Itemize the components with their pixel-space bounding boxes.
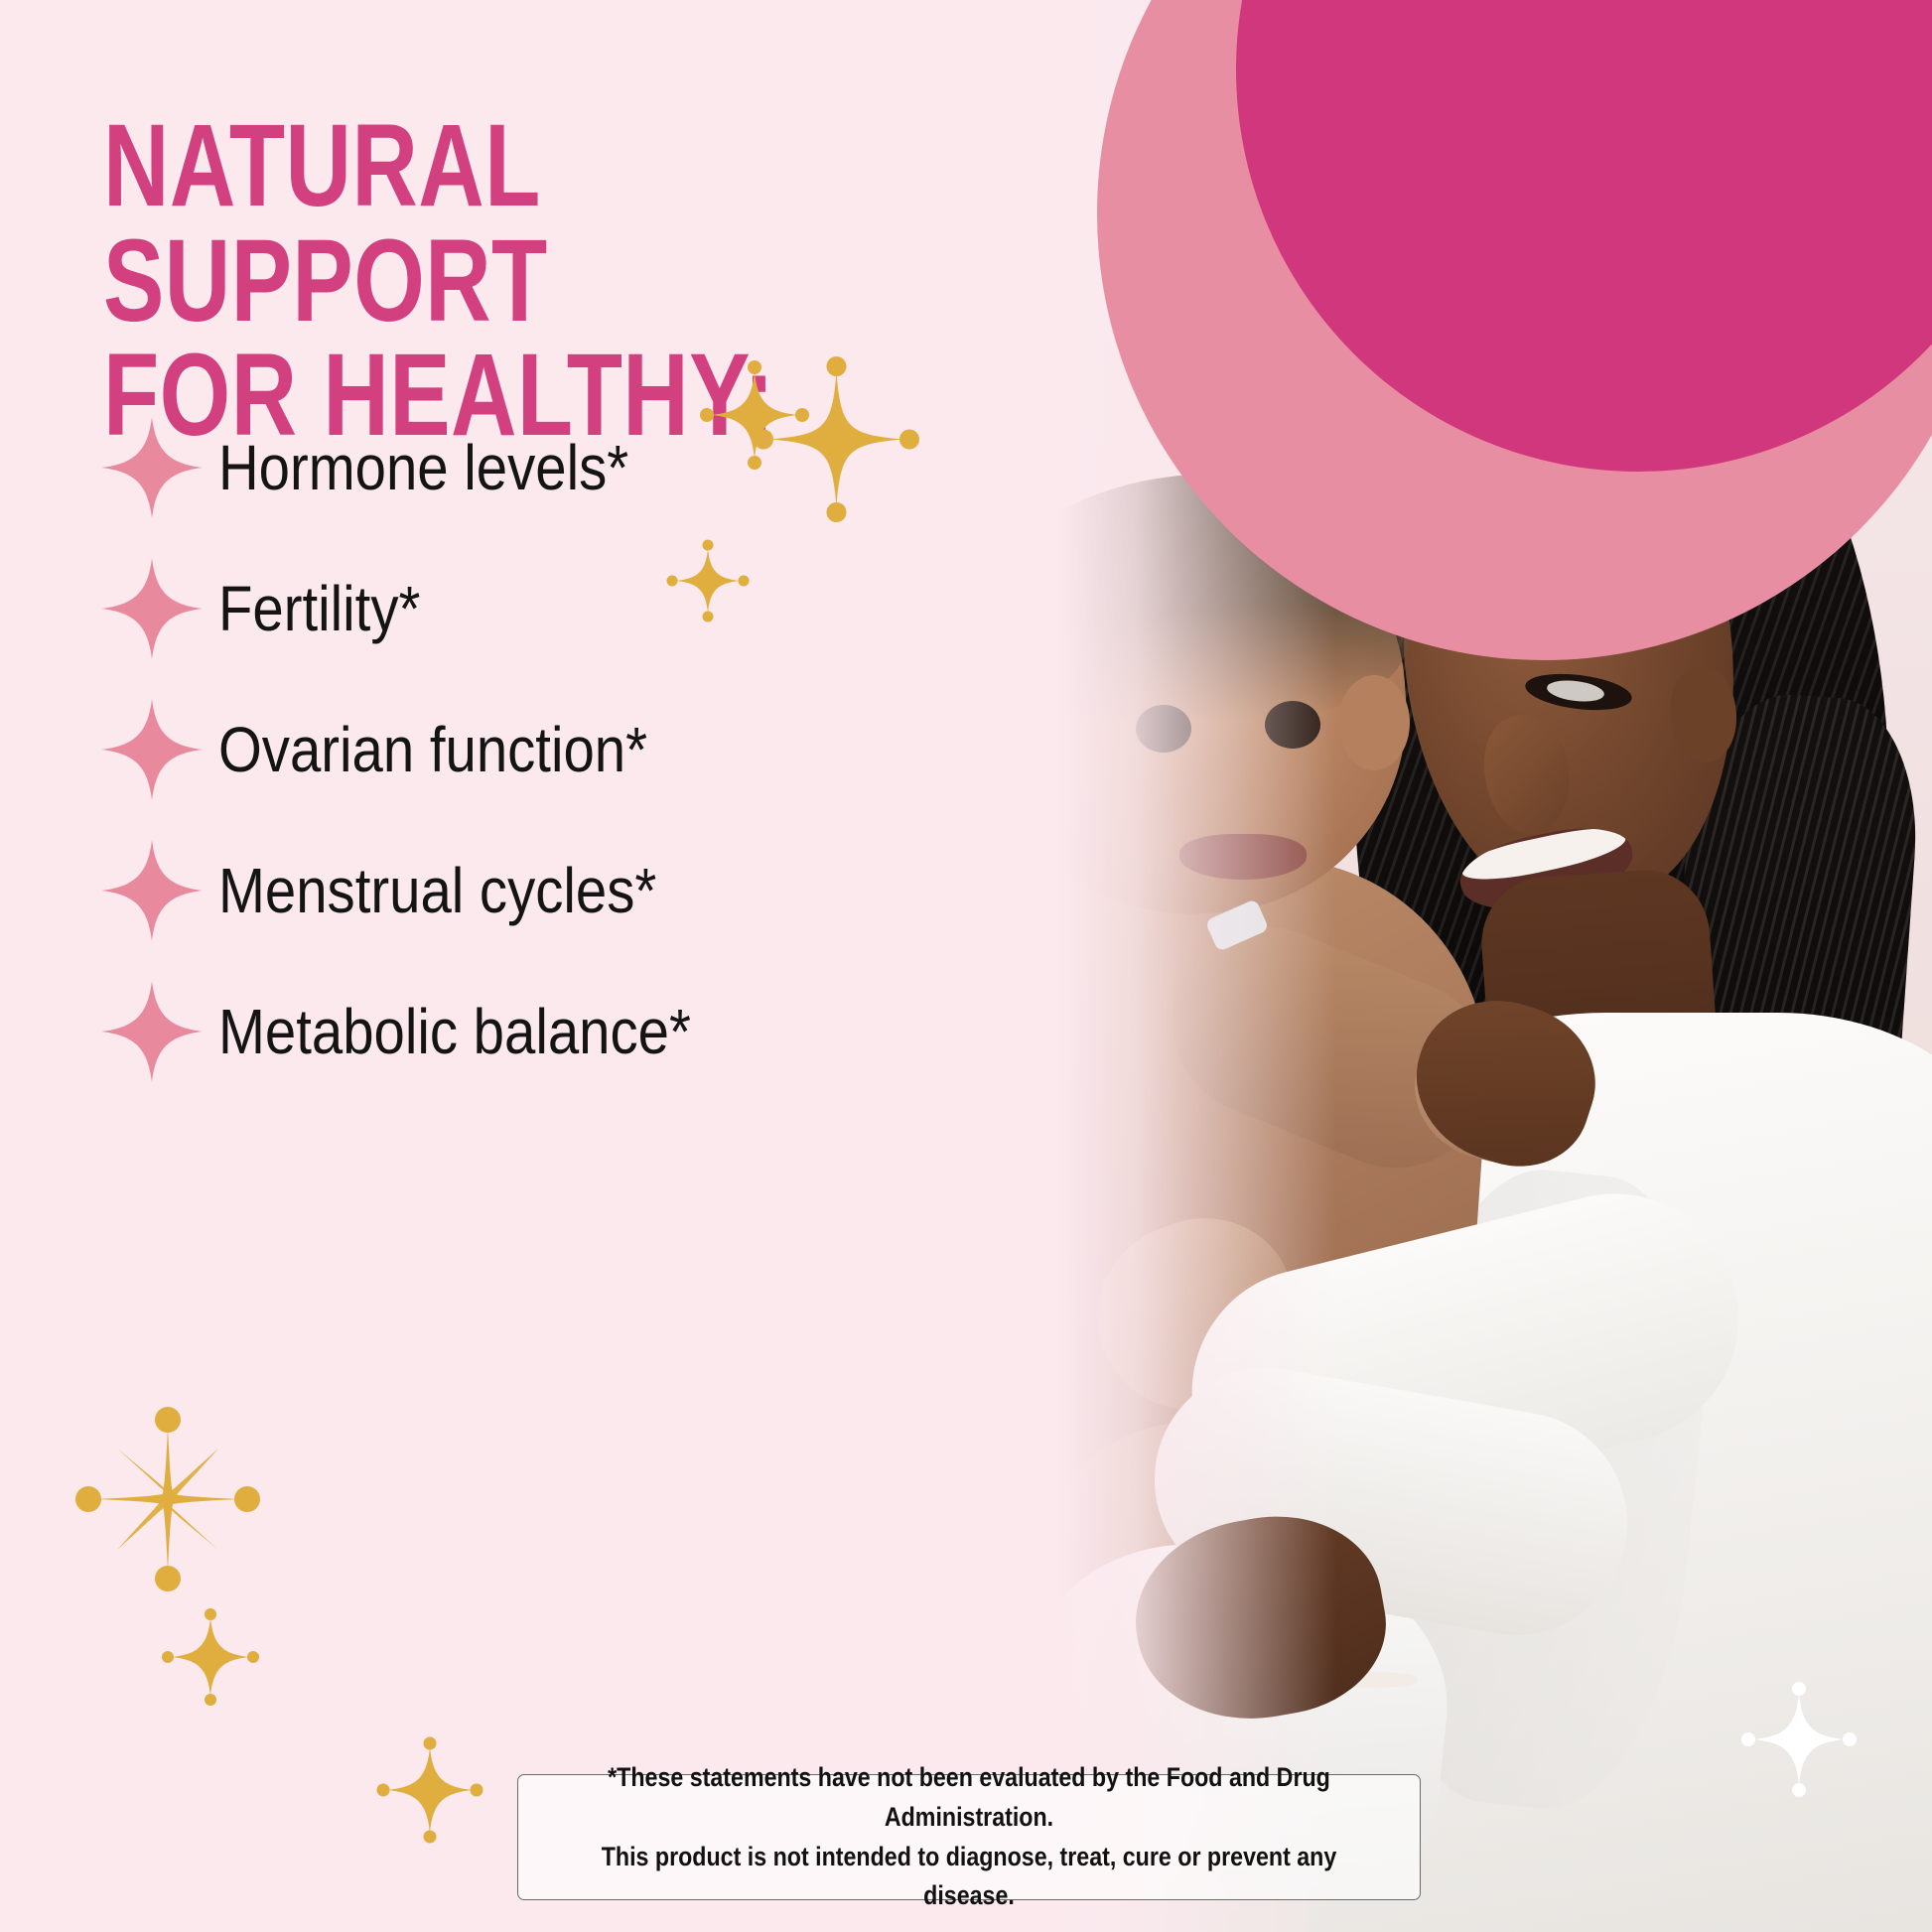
list-item-label: Menstrual cycles* [218,859,656,922]
gold-sparkle-small-bottom-left-icon [157,1603,264,1716]
four-point-star-icon [99,838,205,943]
gold-sparkle-tiny-mid-icon [663,536,753,630]
white-sparkle-on-shirt-icon [1735,1676,1863,1808]
disclaimer-box: *These statements have not been evaluate… [517,1774,1421,1900]
list-item-label: Fertility* [218,577,420,640]
four-point-star-icon [99,415,205,520]
list-item: Menstrual cycles* [99,820,913,961]
gold-sparkle-large-top-icon [750,352,923,531]
list-item: Fertility* [99,538,913,679]
four-point-star-icon [99,556,205,661]
four-point-star-icon [99,697,205,802]
gold-starburst-eight-point-icon [63,1394,273,1609]
baby-ear [1338,675,1410,770]
list-item: Ovarian function* [99,679,913,820]
disclaimer-text: *These statements have not been evaluate… [582,1758,1357,1917]
gold-sparkle-bottom-center-icon [371,1731,488,1854]
list-item-label: Ovarian function* [218,718,647,781]
promo-card: NATURAL SUPPORT FOR HEALTHY: Hormone lev… [0,0,1932,1932]
list-item: Metabolic balance* [99,961,913,1102]
four-point-star-icon [99,979,205,1084]
list-item-label: Metabolic balance* [218,1000,691,1063]
list-item-label: Hormone levels* [218,436,628,499]
